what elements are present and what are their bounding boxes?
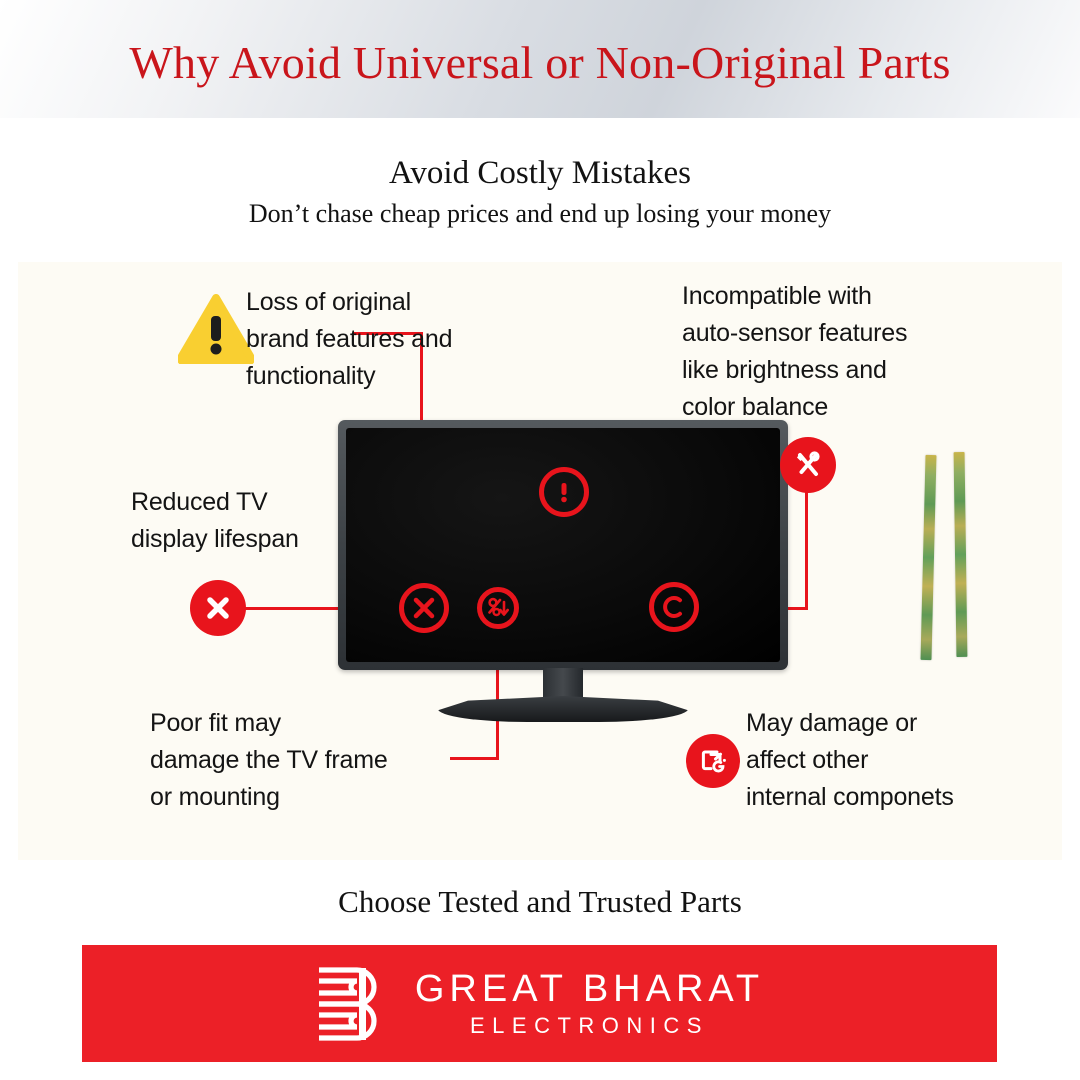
percent-down-circle-icon [477,587,519,629]
callout-line: Loss of original [246,284,516,321]
callout-line: May damage or [746,705,1036,742]
broken-circle-icon [649,582,699,632]
subheading-subtitle: Don’t chase cheap prices and end up losi… [0,196,1080,232]
callout-line: affect other [746,742,1036,779]
tv-led-backlight-strip [954,452,968,657]
brand-subtitle: ELECTRONICS [415,1011,764,1041]
connector-incompatible-vertical [805,492,808,610]
callout-line: Reduced TV [131,484,361,521]
export-arrow-circle-icon [686,734,740,788]
callout-line: or mounting [150,779,450,816]
footer-tagline: Choose Tested and Trusted Parts [0,884,1080,920]
callout-line: Incompatible with [682,278,982,315]
subheading-block: Avoid Costly Mistakes Don’t chase cheap … [0,152,1080,232]
subheading-title: Avoid Costly Mistakes [0,152,1080,194]
warning-triangle-icon [178,294,254,364]
exclamation-circle-icon [539,467,589,517]
callout-line: damage the TV frame [150,742,450,779]
callout-line: auto-sensor features [682,315,982,352]
diagram-panel: Loss of original brand features and func… [18,262,1062,860]
brand-bar: GREAT BHARAT ELECTRONICS [82,945,997,1062]
great-bharat-b-logo [315,962,389,1046]
callout-line: internal componets [746,779,1036,816]
callout-line: functionality [246,358,516,395]
tv-led-backlight-strip [920,455,936,660]
callout-reduced-lifespan: Reduced TV display lifespan [131,484,361,558]
x-circle-icon [399,583,449,633]
brand-name: GREAT BHARAT [415,967,764,1011]
connector-poorfit-horizontal [450,757,499,760]
callout-loss-of-features: Loss of original brand features and func… [246,284,516,395]
callout-incompatible-sensors: Incompatible with auto-sensor features l… [682,278,982,426]
wrench-screwdriver-icon [780,437,836,493]
callout-internal-damage: May damage or affect other internal comp… [746,705,1036,816]
page-title: Why Avoid Universal or Non-Original Part… [0,36,1080,89]
callout-line: like brightness and [682,352,982,389]
x-circle-filled-icon [190,580,246,636]
tv-stand-base [438,696,688,722]
callout-line: brand features and [246,321,516,358]
tv-bezel [338,420,788,670]
callout-line: display lifespan [131,521,361,558]
